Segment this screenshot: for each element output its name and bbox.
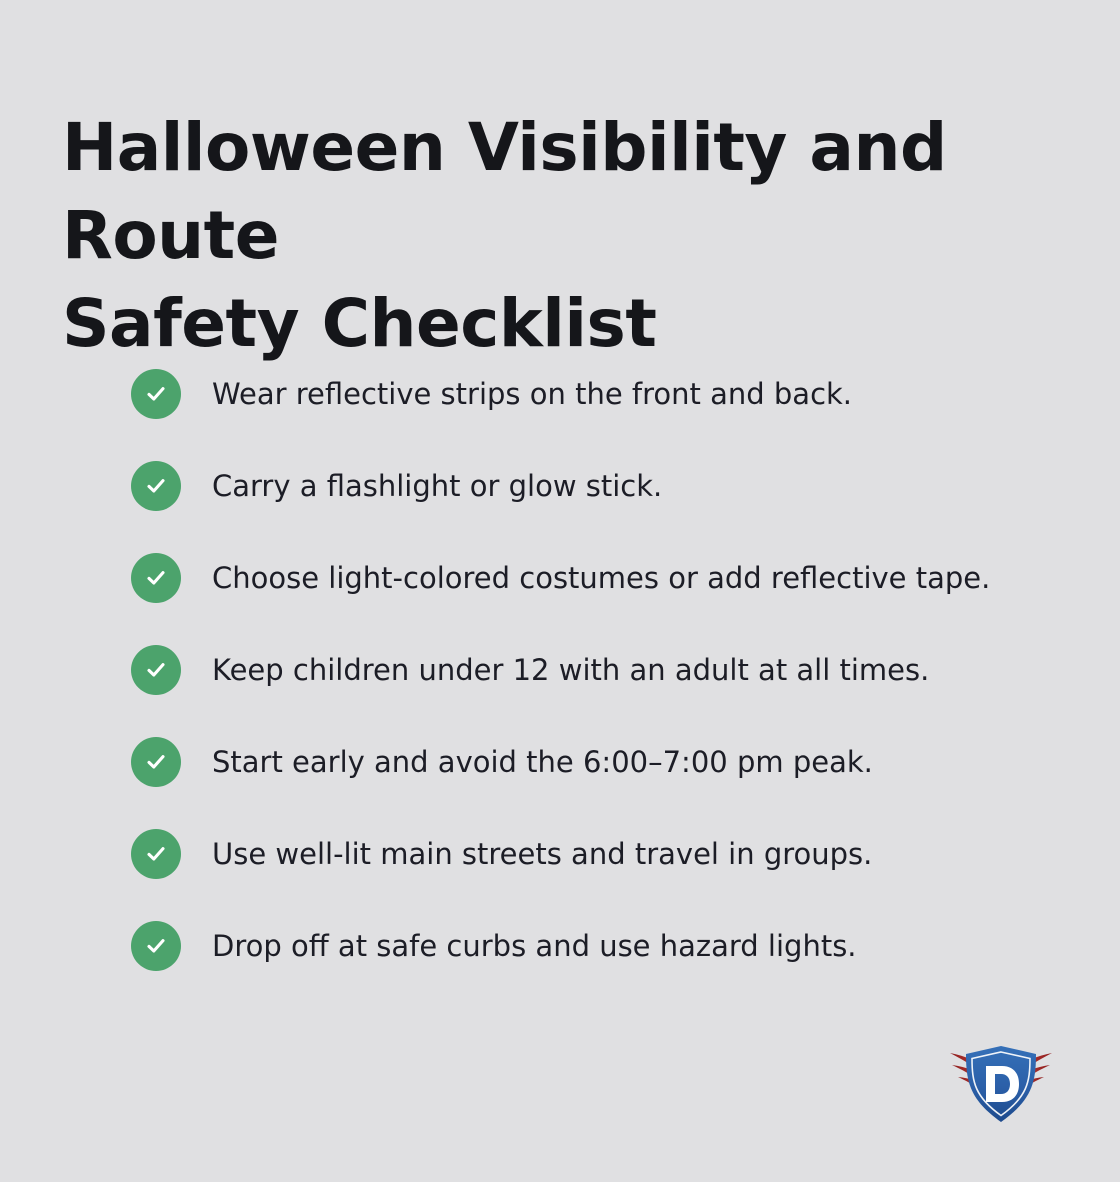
- list-item-label: Choose light-colored costumes or add ref…: [212, 561, 990, 595]
- list-item: Use well-lit main streets and travel in …: [131, 828, 1051, 880]
- list-item: Carry a flashlight or glow stick.: [131, 460, 1051, 512]
- check-circle-icon: [131, 369, 181, 419]
- list-item: Choose light-colored costumes or add ref…: [131, 552, 1051, 604]
- page-title: Halloween Visibility and Route Safety Ch…: [62, 104, 1052, 368]
- list-item-label: Use well-lit main streets and travel in …: [212, 837, 872, 871]
- winged-shield-logo: [940, 1040, 1062, 1128]
- check-circle-icon: [131, 921, 181, 971]
- list-item-label: Start early and avoid the 6:00–7:00 pm p…: [212, 745, 873, 779]
- list-item-label: Wear reflective strips on the front and …: [212, 377, 852, 411]
- list-item: Start early and avoid the 6:00–7:00 pm p…: [131, 736, 1051, 788]
- check-circle-icon: [131, 553, 181, 603]
- list-item: Wear reflective strips on the front and …: [131, 368, 1051, 420]
- list-item: Drop off at safe curbs and use hazard li…: [131, 920, 1051, 972]
- check-circle-icon: [131, 461, 181, 511]
- list-item-label: Carry a flashlight or glow stick.: [212, 469, 662, 503]
- safety-checklist: Wear reflective strips on the front and …: [131, 368, 1051, 972]
- check-circle-icon: [131, 829, 181, 879]
- check-circle-icon: [131, 737, 181, 787]
- check-circle-icon: [131, 645, 181, 695]
- infographic-card: Halloween Visibility and Route Safety Ch…: [0, 0, 1120, 1182]
- list-item: Keep children under 12 with an adult at …: [131, 644, 1051, 696]
- list-item-label: Keep children under 12 with an adult at …: [212, 653, 929, 687]
- list-item-label: Drop off at safe curbs and use hazard li…: [212, 929, 857, 963]
